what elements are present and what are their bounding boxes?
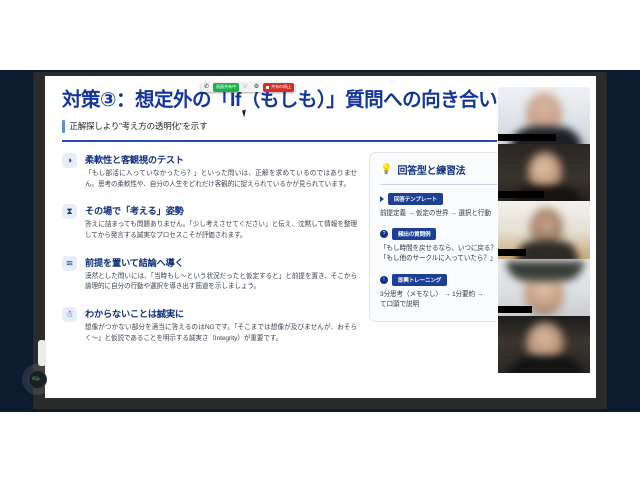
slide-subtitle-row: 正解探しより”考え方の透明化”を示す (62, 120, 562, 133)
stop-square-icon (266, 86, 269, 89)
participant-tile-5[interactable] (498, 316, 590, 373)
participant-video-rail[interactable] (497, 86, 591, 374)
slide-subtitle: 正解探しより”考え方の透明化”を示す (70, 120, 208, 132)
microphone-icon[interactable]: ✆ (202, 83, 211, 92)
slide-header: 対策③：想定外の「If（もしも）」質問への向き合い方 正解探しより”考え方の透明… (62, 90, 562, 133)
participant-tile-1[interactable] (498, 87, 590, 144)
feature-item: ≋ 前提を置いて結論へ導く 漠然とした問いには、「当時もし〜という状況だったと仮… (62, 255, 357, 293)
feature-text: 漠然とした問いには、「当時もし〜という状況だったと仮定すると」と前提を置き、そこ… (85, 272, 357, 293)
exclamation-marker-icon: ! (380, 276, 388, 284)
gear-icon[interactable]: ⚙ (252, 83, 261, 92)
pointer-icon[interactable]: ☞ (241, 83, 250, 92)
feature-title: 前提を置いて結論へ導く (85, 255, 357, 269)
feature-title: その場で「考える」姿勢 (85, 203, 357, 217)
page-title: 対策③：想定外の「If（もしも）」質問への向き合い方 (62, 90, 562, 112)
card-block-badge: 頻出の質問例 (392, 228, 436, 240)
layers-icon: ≋ (62, 256, 77, 271)
feature-item: ⧗ その場で「考える」姿勢 答えに詰まっても問題ありません。「少し考えさせてくだ… (62, 203, 357, 241)
hourglass-icon: ⧗ (62, 204, 77, 219)
top-margin (0, 0, 640, 70)
bottom-margin (0, 412, 640, 480)
participant-name-redacted (498, 191, 544, 198)
card-block-badge: 即興トレーニング (392, 274, 447, 286)
triangle-marker-icon (380, 196, 384, 202)
blurred-torso (506, 261, 584, 281)
participant-name-redacted (498, 249, 526, 256)
feature-title: 柔軟性と客観視のテスト (85, 152, 357, 166)
pen-icon: ✎ (31, 373, 44, 386)
participant-tile-3[interactable] (498, 201, 590, 258)
stop-share-label: 共有の停止 (271, 84, 291, 90)
feature-text: 想像がつかない部分を適当に答えるのはNGです。「そこまでは想像が及びませんが、お… (85, 323, 357, 344)
participant-tile-4[interactable] (498, 259, 590, 316)
annotation-pen-button[interactable]: ✎ (28, 370, 47, 389)
screen-root: 対策③：想定外の「If（もしも）」質問への向き合い方 正解探しより”考え方の透明… (0, 0, 640, 480)
feature-item: ◑ 柔軟性と客観視のテスト 「もし部活に入っていなかったら？」といった問いは、正… (62, 152, 357, 190)
feature-title: わからないことは誠実に (85, 306, 357, 320)
participant-tile-2[interactable] (498, 144, 590, 201)
feature-text: 答えに詰まっても問題ありません。「少し考えさせてください」と伝え、沈黙して情報を… (85, 220, 357, 241)
feature-item: ☃ わからないことは誠実に 想像がつかない部分を適当に答えるのはNGです。「そこ… (62, 306, 357, 344)
meeting-toolbar[interactable]: ✆ 画面共有中 ☞ ⚙ 共有の停止 (201, 82, 295, 92)
participant-name-redacted (498, 134, 556, 141)
lightbulb-icon: 💡 (380, 165, 392, 175)
question-marker-icon: ? (380, 230, 388, 238)
header-divider (62, 140, 552, 142)
card-title: 回答型と練習法 (397, 162, 465, 177)
card-block-badge: 回答テンプレート (388, 193, 443, 205)
stop-share-button[interactable]: 共有の停止 (263, 83, 294, 92)
participant-name-redacted (498, 306, 532, 313)
person-check-icon: ☃ (62, 307, 77, 322)
slide-edge-tab (38, 340, 46, 366)
sharing-status-badge: 画面共有中 (213, 83, 239, 92)
contrast-circle-icon: ◑ (62, 153, 77, 168)
feature-list: ◑ 柔軟性と客観視のテスト 「もし部活に入っていなかったら？」といった問いは、正… (62, 152, 357, 357)
feature-text: 「もし部活に入っていなかったら？」といった問いは、正解を求めているのではありませ… (85, 169, 357, 190)
subtitle-accent-bar (62, 120, 65, 133)
